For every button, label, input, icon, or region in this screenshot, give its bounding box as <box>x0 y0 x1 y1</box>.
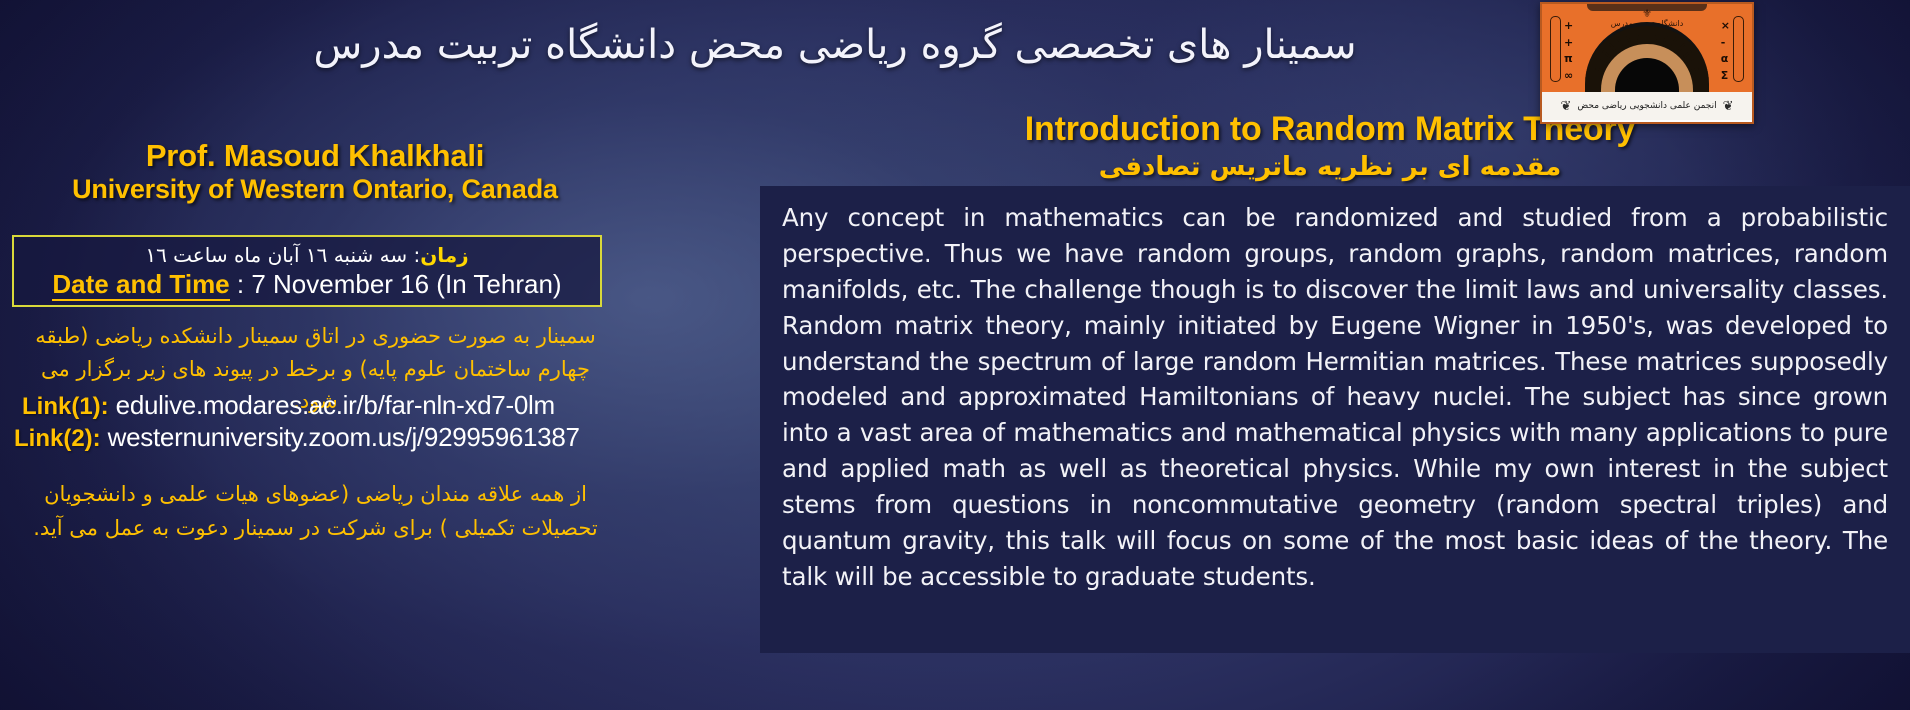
logo-ornament-right-icon: ❦ <box>1554 99 1577 114</box>
invitation-note: از همه علاقه مندان ریاضی (عضوهای هیات عل… <box>18 478 613 545</box>
link-item-1[interactable]: Link(1): edulive.modares.ac.ir/b/far-nln… <box>14 390 619 421</box>
link-2-label: Link(2): <box>14 425 101 453</box>
logo-symbol-times: × <box>1721 18 1730 35</box>
logo-ornament-left-icon: ❦ <box>1717 99 1740 114</box>
logo-symbols-right: × - α Σ <box>1721 18 1730 84</box>
date-time-persian: زمان: سه شنبه ١٦ آبان ماه ساعت ١٦ <box>14 243 600 267</box>
logo-symbol-plus-1: + <box>1564 18 1573 35</box>
speaker-name: Prof. Masoud Khalkhali <box>10 138 620 174</box>
page-title: سمینار های تخصصی گروه ریاضی محض دانشگاه … <box>190 22 1480 68</box>
talk-title-persian: مقدمه ای بر نظریه ماتریس تصادفی <box>760 152 1900 182</box>
date-time-persian-label: زمان <box>420 243 468 267</box>
link-item-2[interactable]: Link(2): westernuniversity.zoom.us/j/929… <box>14 422 619 453</box>
logo-symbol-infinity: ∞ <box>1564 68 1573 85</box>
logo-right-rail-icon <box>1733 16 1744 82</box>
logo-footer: ❦ انجمن علمی دانشجویی ریاضی محض ❦ <box>1542 92 1752 120</box>
logo-symbol-sigma: Σ <box>1721 68 1730 85</box>
link-1-label: Link(1): <box>22 393 109 421</box>
protractor-ticks-icon <box>1587 30 1707 92</box>
university-logo: ⚜ دانشگاه تربیت مدرس + + π ∞ × - α Σ <box>1540 2 1754 124</box>
abstract-box: Any concept in mathematics can be random… <box>760 186 1910 653</box>
logo-footer-text: انجمن علمی دانشجویی ریاضی محض <box>1577 101 1716 111</box>
date-time-separator: : <box>230 269 252 299</box>
logo-symbol-minus: - <box>1721 35 1730 52</box>
logo-symbol-alpha: α <box>1721 51 1730 68</box>
abstract-text: Any concept in mathematics can be random… <box>782 200 1888 595</box>
seminar-poster: سمینار های تخصصی گروه ریاضی محض دانشگاه … <box>0 0 1910 710</box>
link-2-url[interactable]: westernuniversity.zoom.us/j/92995961387 <box>108 422 580 453</box>
date-time-persian-value: : سه شنبه ١٦ آبان ماه ساعت ١٦ <box>145 243 420 267</box>
date-time-english-value: 7 November 16 (In Tehran) <box>251 269 561 299</box>
logo-arch-graphic: ⚜ دانشگاه تربیت مدرس + + π ∞ × - α Σ <box>1542 4 1752 92</box>
logo-symbol-plus-2: + <box>1564 35 1573 52</box>
date-time-english: Date and Time : 7 November 16 (In Tehran… <box>14 269 600 300</box>
logo-left-rail-icon <box>1550 16 1561 82</box>
logo-symbol-pi: π <box>1564 51 1573 68</box>
date-time-box: زمان: سه شنبه ١٦ آبان ماه ساعت ١٦ Date a… <box>12 235 602 307</box>
link-1-url[interactable]: edulive.modares.ac.ir/b/far-nln-xd7-0lm <box>116 390 555 421</box>
logo-symbols-left: + + π ∞ <box>1564 18 1573 84</box>
speaker-affiliation: University of Western Ontario, Canada <box>10 174 620 205</box>
date-time-english-label: Date and Time <box>52 269 229 301</box>
links-list: Link(1): edulive.modares.ac.ir/b/far-nln… <box>14 390 619 454</box>
